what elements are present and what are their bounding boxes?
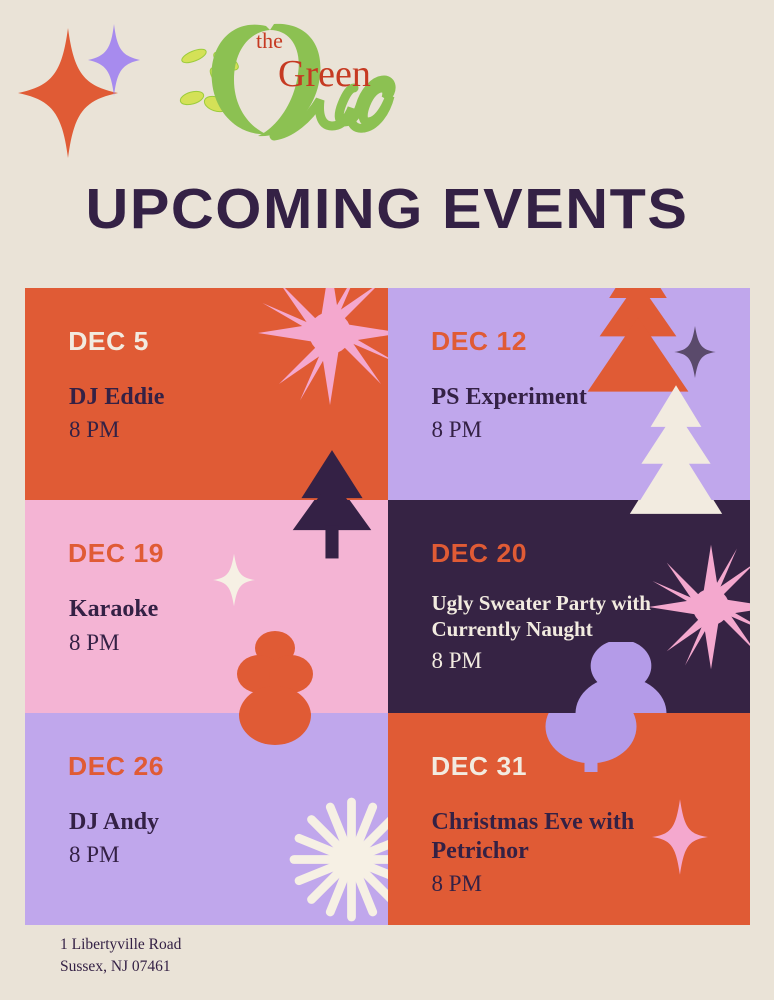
event-cell-dec-26[interactable]: DEC 26 DJ Andy 8 PM bbox=[25, 713, 388, 925]
event-date: DEC 20 bbox=[431, 538, 527, 569]
event-time: 8 PM bbox=[69, 841, 388, 869]
event-name: Ugly Sweater Party with Currently Naught bbox=[432, 591, 732, 642]
page-title: UPCOMING EVENTS bbox=[0, 181, 774, 238]
dark-tree-icon bbox=[277, 448, 387, 500]
event-cell-dec-12[interactable]: DEC 12 PS Experiment 8 PM bbox=[388, 288, 751, 500]
dark-sparkle-icon bbox=[674, 326, 716, 378]
event-date: DEC 12 bbox=[431, 326, 527, 357]
cream-tree-icon bbox=[616, 500, 736, 530]
event-time: 8 PM bbox=[69, 416, 388, 444]
event-time: 8 PM bbox=[432, 870, 751, 898]
logo-the-text: the bbox=[256, 28, 283, 53]
event-date: DEC 5 bbox=[68, 326, 149, 357]
event-cell-dec-20[interactable]: DEC 20 Ugly Sweater Party with Currently… bbox=[388, 500, 751, 712]
venue-address: 1 Libertyville Road Sussex, NJ 07461 bbox=[60, 934, 181, 979]
event-time: 8 PM bbox=[432, 416, 751, 444]
dark-tree-icon bbox=[277, 500, 387, 565]
event-name: PS Experiment bbox=[432, 383, 732, 412]
logo-green-text: Green bbox=[278, 53, 371, 95]
event-date: DEC 26 bbox=[68, 751, 164, 782]
purple-sparkle-icon bbox=[88, 24, 140, 96]
event-date: DEC 31 bbox=[431, 751, 527, 782]
brand-logo: the Green bbox=[178, 8, 398, 153]
orange-topiary-icon bbox=[225, 713, 325, 759]
event-name: DJ Andy bbox=[69, 808, 369, 837]
event-cell-dec-19[interactable]: DEC 19 Karaoke 8 PM bbox=[25, 500, 388, 712]
event-name: DJ Eddie bbox=[69, 383, 369, 412]
address-line-1: 1 Libertyville Road bbox=[60, 934, 181, 956]
poster-header: the Green bbox=[0, 0, 774, 175]
lavender-topiary-icon bbox=[536, 713, 646, 785]
event-date: DEC 19 bbox=[68, 538, 164, 569]
event-cell-dec-31[interactable]: DEC 31 Christmas Eve with Petrichor 8 PM bbox=[388, 713, 751, 925]
address-line-2: Sussex, NJ 07461 bbox=[60, 956, 181, 978]
events-grid: DEC 5 DJ Eddie 8 PM DEC 12 PS Experiment… bbox=[25, 288, 750, 925]
event-cell-dec-5[interactable]: DEC 5 DJ Eddie 8 PM bbox=[25, 288, 388, 500]
event-time: 8 PM bbox=[432, 647, 751, 675]
event-time: 8 PM bbox=[69, 629, 388, 657]
event-name: Karaoke bbox=[69, 595, 369, 624]
event-name: Christmas Eve with Petrichor bbox=[432, 808, 732, 867]
